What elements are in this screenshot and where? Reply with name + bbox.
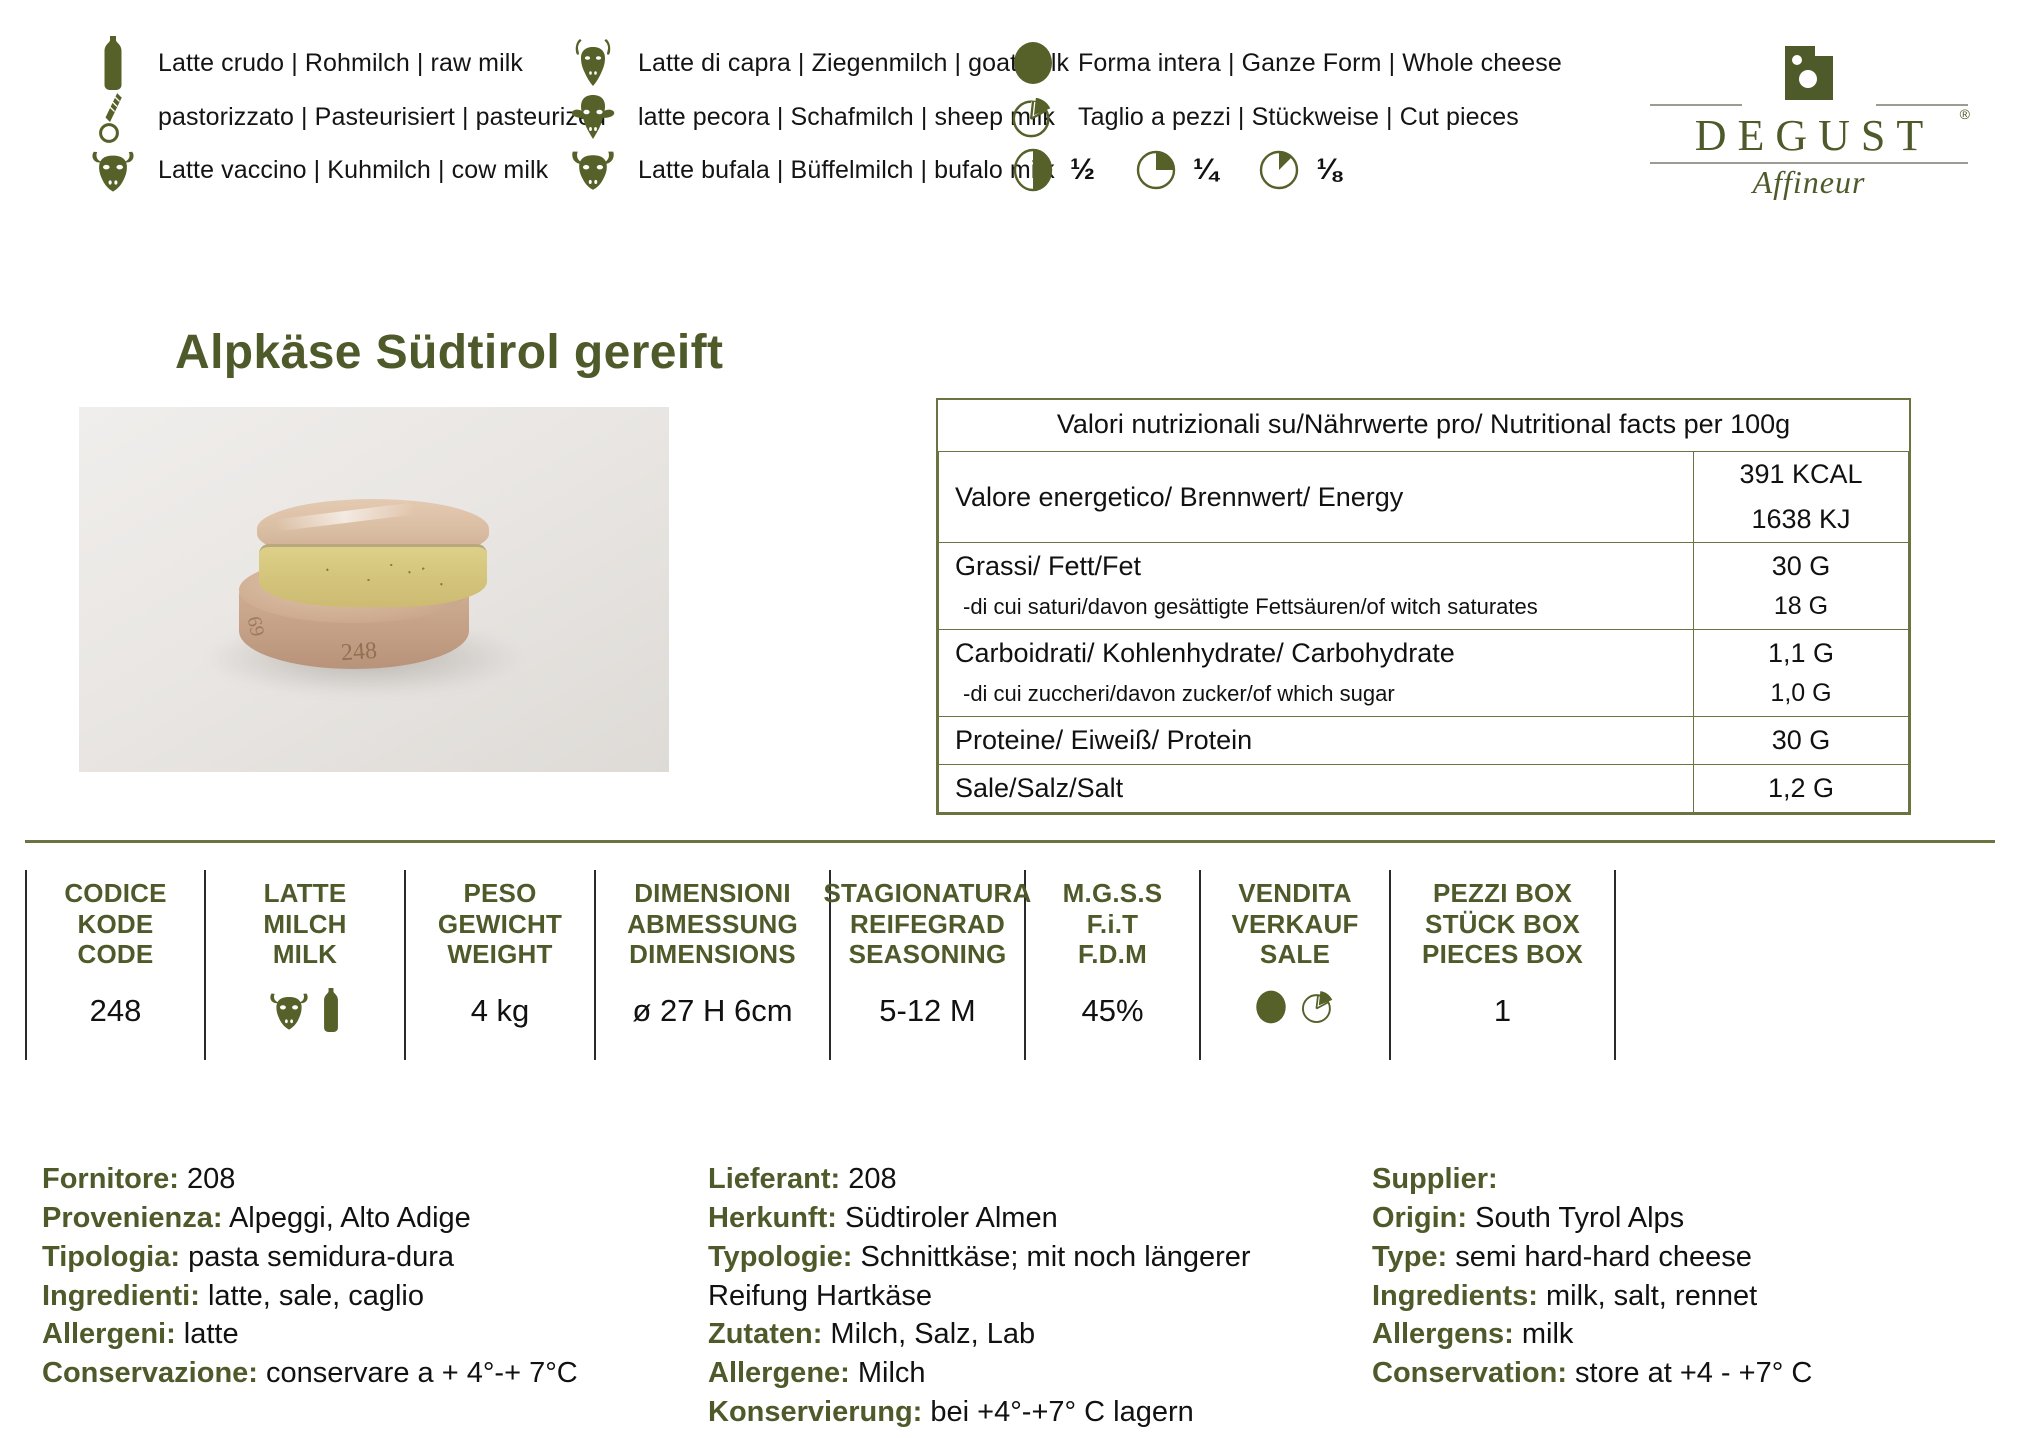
info-key: Fornitore: — [42, 1163, 179, 1195]
spec-value: ø 27 H 6cm — [632, 988, 792, 1034]
spec-header-de: GEWICHT — [438, 909, 562, 940]
raw-milk-bottle-icon — [90, 36, 136, 90]
spec-header-en: CODE — [64, 939, 166, 970]
info-value: conservare a + 4°-+ 7°C — [258, 1357, 578, 1389]
spec-header-de: VERKAUF — [1231, 909, 1358, 940]
info-line: Reifung Hartkäse — [708, 1277, 1348, 1316]
info-key: Conservazione: — [42, 1357, 258, 1389]
table-row: Sale/Salz/Salt 1,2 G — [939, 765, 1909, 813]
spec-column-pieces-box: PEZZI BOX STÜCK BOX PIECES BOX 1 — [1391, 870, 1616, 1060]
info-line: Tipologia: pasta semidura-dura — [42, 1238, 682, 1277]
nutrition-label: Sale/Salz/Salt — [939, 765, 1694, 813]
info-line: Herkunft: Südtiroler Almen — [708, 1199, 1348, 1238]
legend-item-pasteurized: pastorizzato | Pasteurisiert | pasteuriz… — [90, 90, 570, 144]
info-column-english: Supplier: Origin: South Tyrol Alps Type:… — [1372, 1160, 1992, 1393]
info-line: Provenienza: Alpeggi, Alto Adige — [42, 1199, 682, 1238]
info-column-italian: Fornitore: 208 Provenienza: Alpeggi, Alt… — [42, 1160, 682, 1393]
legend-grid: Latte crudo | Rohmilch | raw milk Latte … — [90, 36, 1620, 196]
spec-column-weight: PESO GEWICHT WEIGHT 4 kg — [406, 870, 596, 1060]
spec-header-en: F.D.M — [1063, 939, 1163, 970]
legend-item-whole-cheese: Forma intera | Ganze Form | Whole cheese — [1010, 36, 1620, 90]
nutrition-header-row: Valori nutrizionali su/Nährwerte pro/ Nu… — [939, 400, 1909, 452]
info-line: Zutaten: Milch, Salz, Lab — [708, 1315, 1348, 1354]
info-line: Fornitore: 208 — [42, 1160, 682, 1199]
info-value: Reifung Hartkäse — [708, 1280, 932, 1312]
spec-column-fdm: M.G.S.S F.i.T F.D.M 45% — [1026, 870, 1201, 1060]
spec-header-de: STÜCK BOX — [1422, 909, 1583, 940]
info-key: Provenienza: — [42, 1202, 223, 1234]
legend-label: Latte crudo | Rohmilch | raw milk — [158, 49, 523, 78]
spec-header: CODICE KODE CODE — [64, 878, 166, 970]
cow-head-icon — [268, 990, 310, 1038]
spec-header: M.G.S.S F.i.T F.D.M — [1063, 878, 1163, 970]
spec-header: DIMENSIONI ABMESSUNG DIMENSIONS — [627, 878, 798, 970]
info-key: Ingredienti: — [42, 1280, 200, 1312]
spec-header-it: PESO — [438, 878, 562, 909]
table-row: Grassi/ Fett/Fet 30 G — [939, 543, 1909, 591]
table-row: -di cui saturi/davon gesättigte Fettsäur… — [939, 590, 1909, 630]
info-line: Lieferant: 208 — [708, 1160, 1348, 1199]
nutrition-label: Grassi/ Fett/Fet — [939, 543, 1694, 591]
spec-column-seasoning: STAGIONATURA REIFEGRAD SEASONING 5-12 M — [831, 870, 1026, 1060]
half-cheese-icon — [1010, 147, 1056, 193]
section-divider — [25, 840, 1995, 843]
legend-item-raw-milk: Latte crudo | Rohmilch | raw milk — [90, 36, 570, 90]
info-value: pasta semidura-dura — [180, 1241, 454, 1273]
info-line: Conservazione: conservare a + 4°-+ 7°C — [42, 1354, 682, 1393]
info-key: Type: — [1372, 1241, 1447, 1273]
nutrition-label: Carboidrati/ Kohlenhydrate/ Carbohydrate — [939, 630, 1694, 678]
legend-item-cow-milk: Latte vaccino | Kuhmilch | cow milk — [90, 144, 570, 196]
info-key: Allergene: — [708, 1357, 850, 1389]
info-line: Allergens: milk — [1372, 1315, 1992, 1354]
nutrition-label: -di cui zuccheri/davon zucker/of which s… — [939, 677, 1694, 717]
info-value: semi hard-hard cheese — [1447, 1241, 1752, 1273]
info-line: Type: semi hard-hard cheese — [1372, 1238, 1992, 1277]
cut-pieces-icon — [1010, 93, 1056, 141]
info-line: Konservierung: bei +4°-+7° C lagern — [708, 1393, 1348, 1432]
legend-label: Forma intera | Ganze Form | Whole cheese — [1078, 49, 1562, 78]
nutrition-value: 391 KCAL — [1694, 452, 1909, 498]
spec-header-it: CODICE — [64, 878, 166, 909]
table-row: -di cui zuccheri/davon zucker/of which s… — [939, 677, 1909, 717]
legend-label: Latte vaccino | Kuhmilch | cow milk — [158, 156, 548, 185]
nutrition-value: 1,0 G — [1694, 677, 1909, 717]
photo-cheese-paste — [259, 544, 487, 607]
legend-label: Latte bufala | Büffelmilch | bufalo milk — [638, 156, 1055, 185]
info-key: Typologie: — [708, 1241, 852, 1273]
info-block: Fornitore: 208 Provenienza: Alpeggi, Alt… — [0, 1160, 2020, 1438]
info-key: Tipologia: — [42, 1241, 180, 1273]
info-key: Conservation: — [1372, 1357, 1567, 1389]
photo-wheel-code: 248 — [340, 638, 378, 667]
spec-header: PEZZI BOX STÜCK BOX PIECES BOX — [1422, 878, 1583, 970]
info-line: Supplier: — [1372, 1160, 1992, 1199]
nutrition-value: 1,1 G — [1694, 630, 1909, 678]
info-key: Origin: — [1372, 1202, 1467, 1234]
spec-header-it: STAGIONATURA — [824, 878, 1032, 909]
spec-header-en: SALE — [1231, 939, 1358, 970]
nutrition-label: -di cui saturi/davon gesättigte Fettsäur… — [939, 590, 1694, 630]
info-key: Allergeni: — [42, 1318, 176, 1350]
info-key: Herkunft: — [708, 1202, 837, 1234]
spec-value: 5-12 M — [879, 988, 975, 1034]
logo-wordmark: DEGUST — [1644, 110, 1974, 161]
eighth-cheese-icon — [1256, 147, 1302, 193]
whole-cheese-icon — [1010, 40, 1056, 86]
page-title: Alpkäse Südtirol gereift — [175, 325, 723, 380]
info-key: Ingredients: — [1372, 1280, 1538, 1312]
table-row: Proteine/ Eiweiß/ Protein 30 G — [939, 717, 1909, 765]
info-value: Milch — [850, 1357, 926, 1389]
legend-fraction-row: ½ ¼ ⅛ — [1010, 144, 1620, 196]
info-key: Konservierung: — [708, 1396, 922, 1428]
goat-head-icon — [570, 37, 616, 89]
buffalo-head-icon — [570, 148, 616, 192]
logo-subtitle: Affineur — [1644, 164, 1974, 201]
spec-header-de: F.i.T — [1063, 909, 1163, 940]
spec-header-en: MILK — [263, 939, 346, 970]
spec-header-de: REIFEGRAD — [824, 909, 1032, 940]
nutrition-value: 1638 KJ — [1694, 497, 1909, 543]
spec-header-en: PIECES BOX — [1422, 939, 1583, 970]
spec-header: PESO GEWICHT WEIGHT — [438, 878, 562, 970]
spec-header-de: ABMESSUNG — [627, 909, 798, 940]
spec-header: STAGIONATURA REIFEGRAD SEASONING — [824, 878, 1032, 970]
product-datasheet: Latte crudo | Rohmilch | raw milk Latte … — [0, 0, 2020, 1438]
spec-header-en: WEIGHT — [438, 939, 562, 970]
quarter-cheese-icon — [1133, 147, 1179, 193]
nutrition-value: 1,2 G — [1694, 765, 1909, 813]
nutrition-value: 18 G — [1694, 590, 1909, 630]
nutrition-header: Valori nutrizionali su/Nährwerte pro/ Nu… — [939, 400, 1909, 452]
info-line: Typologie: Schnittkäse; mit noch längere… — [708, 1238, 1348, 1277]
info-value: store at +4 - +7° C — [1567, 1357, 1812, 1389]
info-key: Supplier: — [1372, 1163, 1498, 1195]
info-line: Ingredients: milk, salt, rennet — [1372, 1277, 1992, 1316]
nutrition-label: Proteine/ Eiweiß/ Protein — [939, 717, 1694, 765]
legend-label: Latte di capra | Ziegenmilch | goat milk — [638, 49, 1069, 78]
legend-item-eighth: ⅛ — [1256, 147, 1341, 193]
info-value: South Tyrol Alps — [1467, 1202, 1684, 1234]
info-value: Alpeggi, Alto Adige — [223, 1202, 471, 1234]
spec-header-it: M.G.S.S — [1063, 878, 1163, 909]
whole-cheese-icon — [1253, 988, 1289, 1034]
specification-table: CODICE KODE CODE 248 LATTE MILCH MILK — [25, 870, 1995, 1060]
product-photo: 248 69 — [79, 407, 669, 772]
legend-item-goat-milk: Latte di capra | Ziegenmilch | goat milk — [570, 36, 1010, 90]
spec-column-code: CODICE KODE CODE 248 — [25, 870, 206, 1060]
info-key: Zutaten: — [708, 1318, 822, 1350]
spec-header-en: DIMENSIONS — [627, 939, 798, 970]
fraction-label: ¼ — [1193, 153, 1218, 187]
spec-header-it: LATTE — [263, 878, 346, 909]
spec-header: VENDITA VERKAUF SALE — [1231, 878, 1358, 970]
logo-top-rules — [1644, 104, 1974, 106]
nutrition-table: Valori nutrizionali su/Nährwerte pro/ Nu… — [936, 398, 1911, 815]
legend-item-quarter: ¼ — [1133, 147, 1218, 193]
spec-value: 248 — [90, 988, 142, 1034]
info-value: latte, sale, caglio — [200, 1280, 424, 1312]
nutrition-value: 30 G — [1694, 543, 1909, 591]
fraction-label: ½ — [1070, 153, 1095, 187]
info-line: Origin: South Tyrol Alps — [1372, 1199, 1992, 1238]
legend-label: Taglio a pezzi | Stückweise | Cut pieces — [1078, 103, 1519, 132]
spec-column-sale: VENDITA VERKAUF SALE — [1201, 870, 1391, 1060]
cheese-wedge-logo-icon — [1777, 42, 1841, 109]
raw-milk-bottle-icon — [320, 988, 342, 1040]
spec-column-dimensions: DIMENSIONI ABMESSUNG DIMENSIONS ø 27 H 6… — [596, 870, 831, 1060]
nutrition-value: 30 G — [1694, 717, 1909, 765]
spec-header-it: PEZZI BOX — [1422, 878, 1583, 909]
table-row: Valore energetico/ Brennwert/ Energy 391… — [939, 452, 1909, 498]
spec-value: 1 — [1494, 988, 1511, 1034]
info-key: Allergens: — [1372, 1318, 1514, 1350]
spec-value-icons — [268, 988, 342, 1040]
spec-value: 45% — [1081, 988, 1143, 1034]
info-value: 208 — [179, 1163, 235, 1195]
spec-header-de: KODE — [64, 909, 166, 940]
info-value: Milch, Salz, Lab — [822, 1318, 1035, 1350]
nutrition-label: Valore energetico/ Brennwert/ Energy — [939, 452, 1694, 543]
degust-logo: DEGUST ® Affineur — [1644, 40, 1974, 192]
spec-column-spacer — [1616, 870, 1995, 1060]
legend-item-half: ½ — [1010, 147, 1095, 193]
cow-head-icon — [90, 147, 136, 193]
fraction-label: ⅛ — [1316, 153, 1341, 187]
info-value: 208 — [840, 1163, 896, 1195]
table-row: Carboidrati/ Kohlenhydrate/ Carbohydrate… — [939, 630, 1909, 678]
spec-value: 4 kg — [471, 988, 530, 1034]
legend-item-buffalo-milk: Latte bufala | Büffelmilch | bufalo milk — [570, 144, 1010, 196]
spec-value-icons — [1253, 988, 1337, 1034]
info-value: Südtiroler Almen — [837, 1202, 1058, 1234]
info-value: Schnittkäse; mit noch längerer — [852, 1241, 1250, 1273]
info-value: bei +4°-+7° C lagern — [922, 1396, 1193, 1428]
info-column-german: Lieferant: 208 Herkunft: Südtiroler Alme… — [708, 1160, 1348, 1432]
spec-column-milk: LATTE MILCH MILK — [206, 870, 406, 1060]
info-value: milk — [1514, 1318, 1574, 1350]
info-line: Conservation: store at +4 - +7° C — [1372, 1354, 1992, 1393]
spec-header-de: MILCH — [263, 909, 346, 940]
sheep-head-icon — [570, 92, 616, 142]
info-line: Allergene: Milch — [708, 1354, 1348, 1393]
registered-trademark-icon: ® — [1960, 106, 1970, 122]
thermometer-icon — [90, 90, 136, 144]
info-line: Ingredienti: latte, sale, caglio — [42, 1277, 682, 1316]
legend-item-sheep-milk: latte pecora | Schafmilch | sheep milk — [570, 90, 1010, 144]
info-value: milk, salt, rennet — [1538, 1280, 1757, 1312]
cut-pieces-icon — [1299, 988, 1337, 1034]
spec-header-it: DIMENSIONI — [627, 878, 798, 909]
info-line: Allergeni: latte — [42, 1315, 682, 1354]
legend-label: latte pecora | Schafmilch | sheep milk — [638, 103, 1055, 132]
info-key: Lieferant: — [708, 1163, 840, 1195]
legend-item-cut-pieces: Taglio a pezzi | Stückweise | Cut pieces — [1010, 90, 1620, 144]
legend-label: pastorizzato | Pasteurisiert | pasteuriz… — [158, 103, 606, 132]
spec-header: LATTE MILCH MILK — [263, 878, 346, 970]
info-value: latte — [176, 1318, 239, 1350]
spec-header-it: VENDITA — [1231, 878, 1358, 909]
spec-header-en: SEASONING — [824, 939, 1032, 970]
